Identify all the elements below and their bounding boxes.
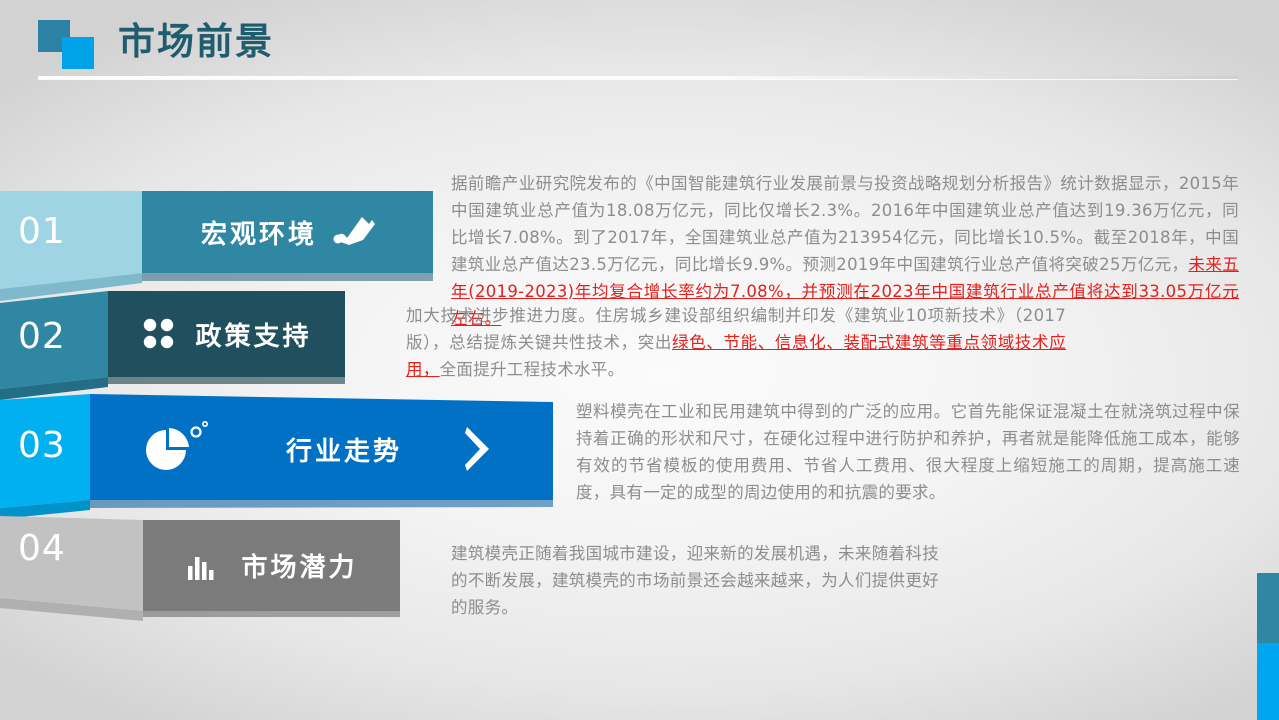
ribbon-01-label: 宏观环境: [201, 214, 317, 251]
ribbon-03-label: 行业走势: [286, 431, 402, 468]
bar-chart-icon: [185, 549, 219, 583]
pie-chart-icon: [142, 418, 210, 480]
chevron-right-icon: [460, 423, 496, 475]
corner-accent-blue: [1257, 643, 1279, 720]
paragraph-03: 塑料模壳在工业和民用建筑中得到的广泛的应用。它首先能保证混凝土在就浇筑过程中保持…: [576, 398, 1240, 506]
ribbon-01-bar[interactable]: 宏观环境: [142, 191, 433, 273]
ribbon-01-number: 01: [18, 211, 66, 252]
corner-accent-teal: [1257, 573, 1279, 643]
header-divider: [38, 76, 1238, 79]
ribbon-02-number: 02: [18, 316, 66, 357]
paragraph-02: 加大技术进步推进力度。住房城乡建设部组织编制并印发《建筑业10项新技术》（201…: [406, 302, 1066, 383]
ribbon-04-number: 04: [18, 528, 66, 569]
header-square-blue-icon: [62, 37, 94, 69]
paragraph-02-text-b: 全面提升工程技术水平。: [440, 360, 625, 379]
page-title: 市场前景: [118, 18, 274, 66]
ribbon-04-label: 市场潜力: [241, 547, 357, 584]
paragraph-04-text: 建筑模壳正随着我国城市建设，迎来新的发展机遇，未来随着科技的不断发展，建筑模壳的…: [451, 544, 939, 617]
ribbon-03-number: 03: [18, 425, 66, 466]
paragraph-04: 建筑模壳正随着我国城市建设，迎来新的发展机遇，未来随着科技的不断发展，建筑模壳的…: [451, 540, 939, 621]
ribbon-02-label: 政策支持: [195, 316, 311, 353]
ribbon-03-bar[interactable]: 行业走势: [90, 398, 553, 500]
ribbon-item-03[interactable]: 03 行业走势: [0, 392, 600, 514]
trend-up-icon: [331, 212, 377, 252]
ribbon-02-bar[interactable]: 政策支持: [108, 291, 345, 377]
ribbon-04-bar[interactable]: 市场潜力: [143, 520, 400, 611]
paragraph-01-text: 据前瞻产业研究院发布的《中国智能建筑行业发展前景与投资战略规划分析报告》统计数据…: [451, 174, 1239, 274]
slide-canvas: 市场前景 01 宏观环境: [0, 0, 1279, 720]
four-dots-icon: [141, 316, 177, 352]
paragraph-03-text: 塑料模壳在工业和民用建筑中得到的广泛的应用。它首先能保证混凝土在就浇筑过程中保持…: [576, 402, 1240, 502]
